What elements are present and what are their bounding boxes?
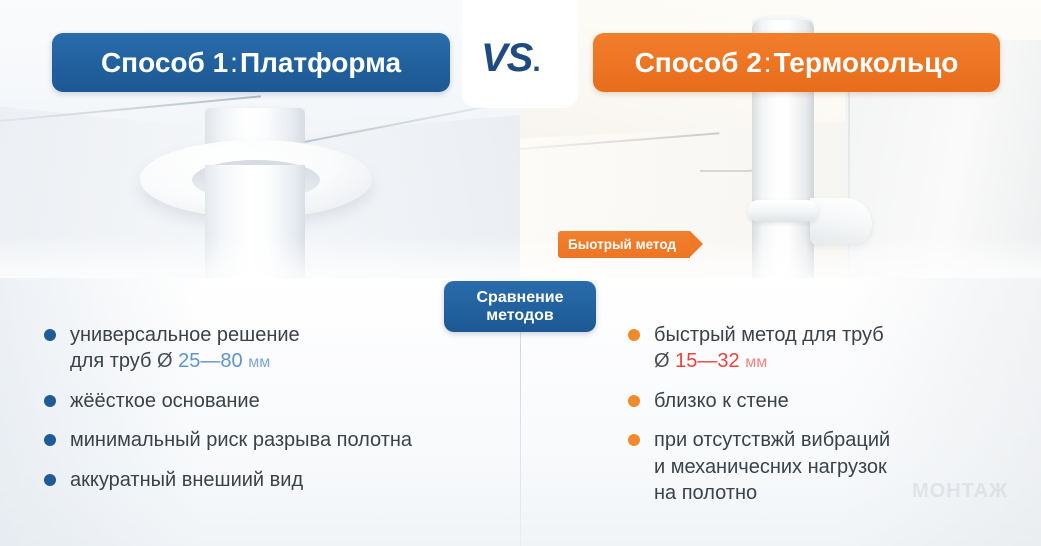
diameter-symbol: Ø — [654, 350, 670, 372]
diameter-range: 15—32 — [675, 350, 740, 372]
fast-method-callout-label: Быотрый метод — [568, 237, 676, 252]
list-item: при отсутствжй вибраций и механичесних н… — [628, 427, 1018, 506]
comparison-infographic: МОНТАЖ Способ 1:Платформа VS. Способ 2:Т… — [0, 0, 1041, 546]
bullet-line: и механичесних нагрузок — [654, 454, 890, 480]
bullet-dot-icon — [44, 329, 56, 341]
method-two-badge-separator: : — [762, 47, 774, 79]
method-two-bullet-list: быстрый метод для труб Ø 15—32 мм близко… — [628, 322, 1018, 519]
bullet-text: близко к стене — [654, 388, 789, 414]
bullet-dot-icon — [628, 434, 640, 446]
bullet-line-measure: для труб Ø 25—80 мм — [70, 348, 300, 374]
diameter-symbol: Ø — [157, 350, 173, 372]
diameter-range: 25—80 — [178, 350, 243, 372]
diameter-unit: мм — [248, 354, 270, 371]
method-two-badge[interactable]: Способ 2:Термокольцо — [593, 33, 1000, 92]
diameter-unit: мм — [745, 354, 767, 371]
bullet-line-prefix: для труб — [70, 350, 151, 372]
bullet-line-measure: Ø 15—32 мм — [654, 348, 884, 374]
method-two-badge-prefix: Способ 2 — [635, 47, 762, 79]
method-one-badge-prefix: Способ 1 — [101, 47, 228, 79]
list-item: аккуратный внешиий вид — [44, 467, 504, 493]
bullet-line: быстрый метод для труб — [654, 322, 884, 348]
bullet-text: быстрый метод для труб Ø 15—32 мм — [654, 322, 884, 375]
comparison-badge-line2: методов — [486, 307, 553, 325]
list-item: жёёсткое основание — [44, 388, 504, 414]
bullet-text: аккуратный внешиий вид — [70, 467, 303, 493]
list-item: близко к стене — [628, 388, 1018, 414]
method-one-bullet-list: универсальное решение для труб Ø 25—80 м… — [44, 322, 504, 506]
bullet-dot-icon — [628, 329, 640, 341]
bullet-line: при отсутствжй вибраций — [654, 427, 890, 453]
fast-method-callout: Быотрый метод — [558, 231, 690, 258]
versus-label: VS — [481, 36, 532, 80]
bullet-line: универсальное решение — [70, 322, 300, 348]
bullet-text: минимальный риск разрыва полотна — [70, 427, 412, 453]
bullet-dot-icon — [44, 395, 56, 407]
thermoring-flare — [810, 198, 872, 244]
versus-dot: . — [532, 45, 539, 78]
comparison-badge-line1: Сравнение — [476, 289, 563, 307]
method-two-badge-name: Термокольцо — [774, 47, 959, 79]
bullet-dot-icon — [628, 395, 640, 407]
method-one-badge[interactable]: Способ 1:Платформа — [52, 33, 450, 92]
method-one-badge-separator: : — [228, 47, 240, 79]
bullet-text: при отсутствжй вибраций и механичесних н… — [654, 427, 890, 506]
method-one-badge-name: Платформа — [240, 47, 401, 79]
bullet-dot-icon — [44, 434, 56, 446]
pipe-lower-left — [205, 165, 305, 290]
thermoring-collar — [748, 200, 818, 222]
bullet-text: жёёсткое основание — [70, 388, 260, 414]
list-item: минимальный риск разрыва полотна — [44, 427, 504, 453]
list-item: универсальное решение для труб Ø 25—80 м… — [44, 322, 504, 375]
bullet-line: на полотно — [654, 480, 890, 506]
versus-mark: VS. — [481, 36, 540, 81]
list-item: быстрый метод для труб Ø 15—32 мм — [628, 322, 1018, 375]
bullet-dot-icon — [44, 474, 56, 486]
comparison-center-badge: Сравнение методов — [444, 281, 596, 332]
bullet-text: универсальное решение для труб Ø 25—80 м… — [70, 322, 300, 375]
